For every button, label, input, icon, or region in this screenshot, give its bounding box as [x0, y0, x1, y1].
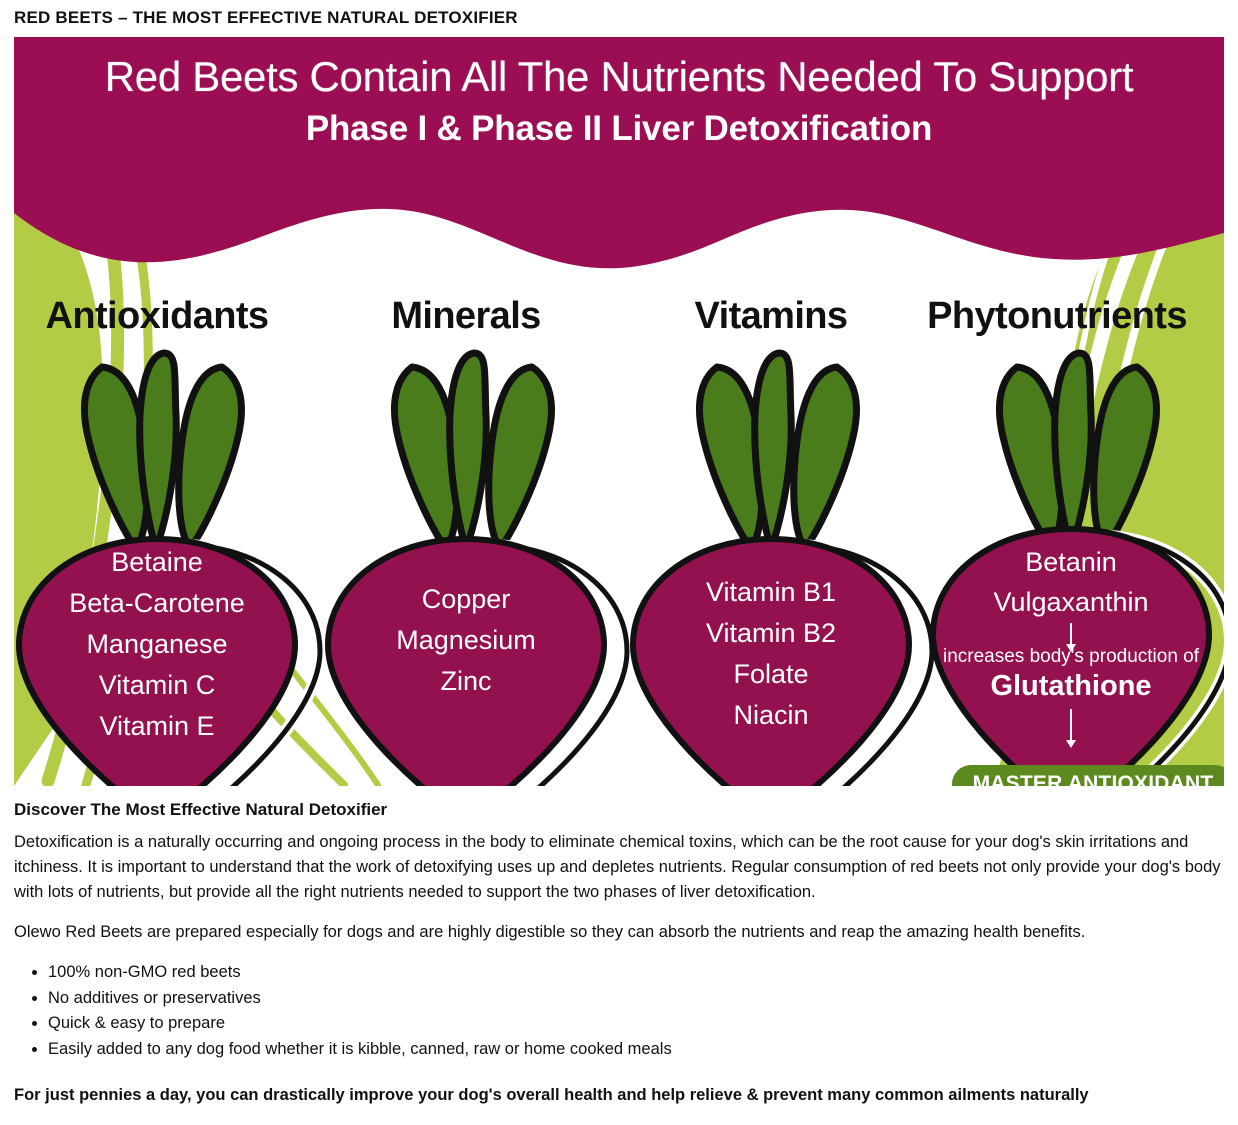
article-heading: Discover The Most Effective Natural Deto…	[14, 800, 1224, 820]
list-item: Quick & easy to prepare	[48, 1011, 1224, 1037]
article-closing-line: For just pennies a day, you can drastica…	[14, 1083, 1224, 1107]
article-paragraph-2: Olewo Red Beets are prepared especially …	[14, 920, 1224, 945]
list-item: Easily added to any dog food whether it …	[48, 1037, 1224, 1063]
article-paragraph-1: Detoxification is a naturally occurring …	[14, 830, 1224, 905]
list-item: No additives or preservatives	[48, 986, 1224, 1012]
feature-list: 100% non-GMO red beets No additives or p…	[14, 960, 1224, 1062]
infographic-image: Red Beets Contain All The Nutrients Need…	[14, 37, 1224, 786]
page-title: RED BEETS – THE MOST EFFECTIVE NATURAL D…	[0, 0, 1238, 37]
list-item: 100% non-GMO red beets	[48, 960, 1224, 986]
master-antioxidant-badge: MASTER ANTIOXIDANT	[952, 765, 1224, 786]
banner-wave	[14, 37, 1224, 268]
infographic-artwork	[14, 37, 1224, 786]
article-body: Discover The Most Effective Natural Deto…	[0, 800, 1238, 1107]
